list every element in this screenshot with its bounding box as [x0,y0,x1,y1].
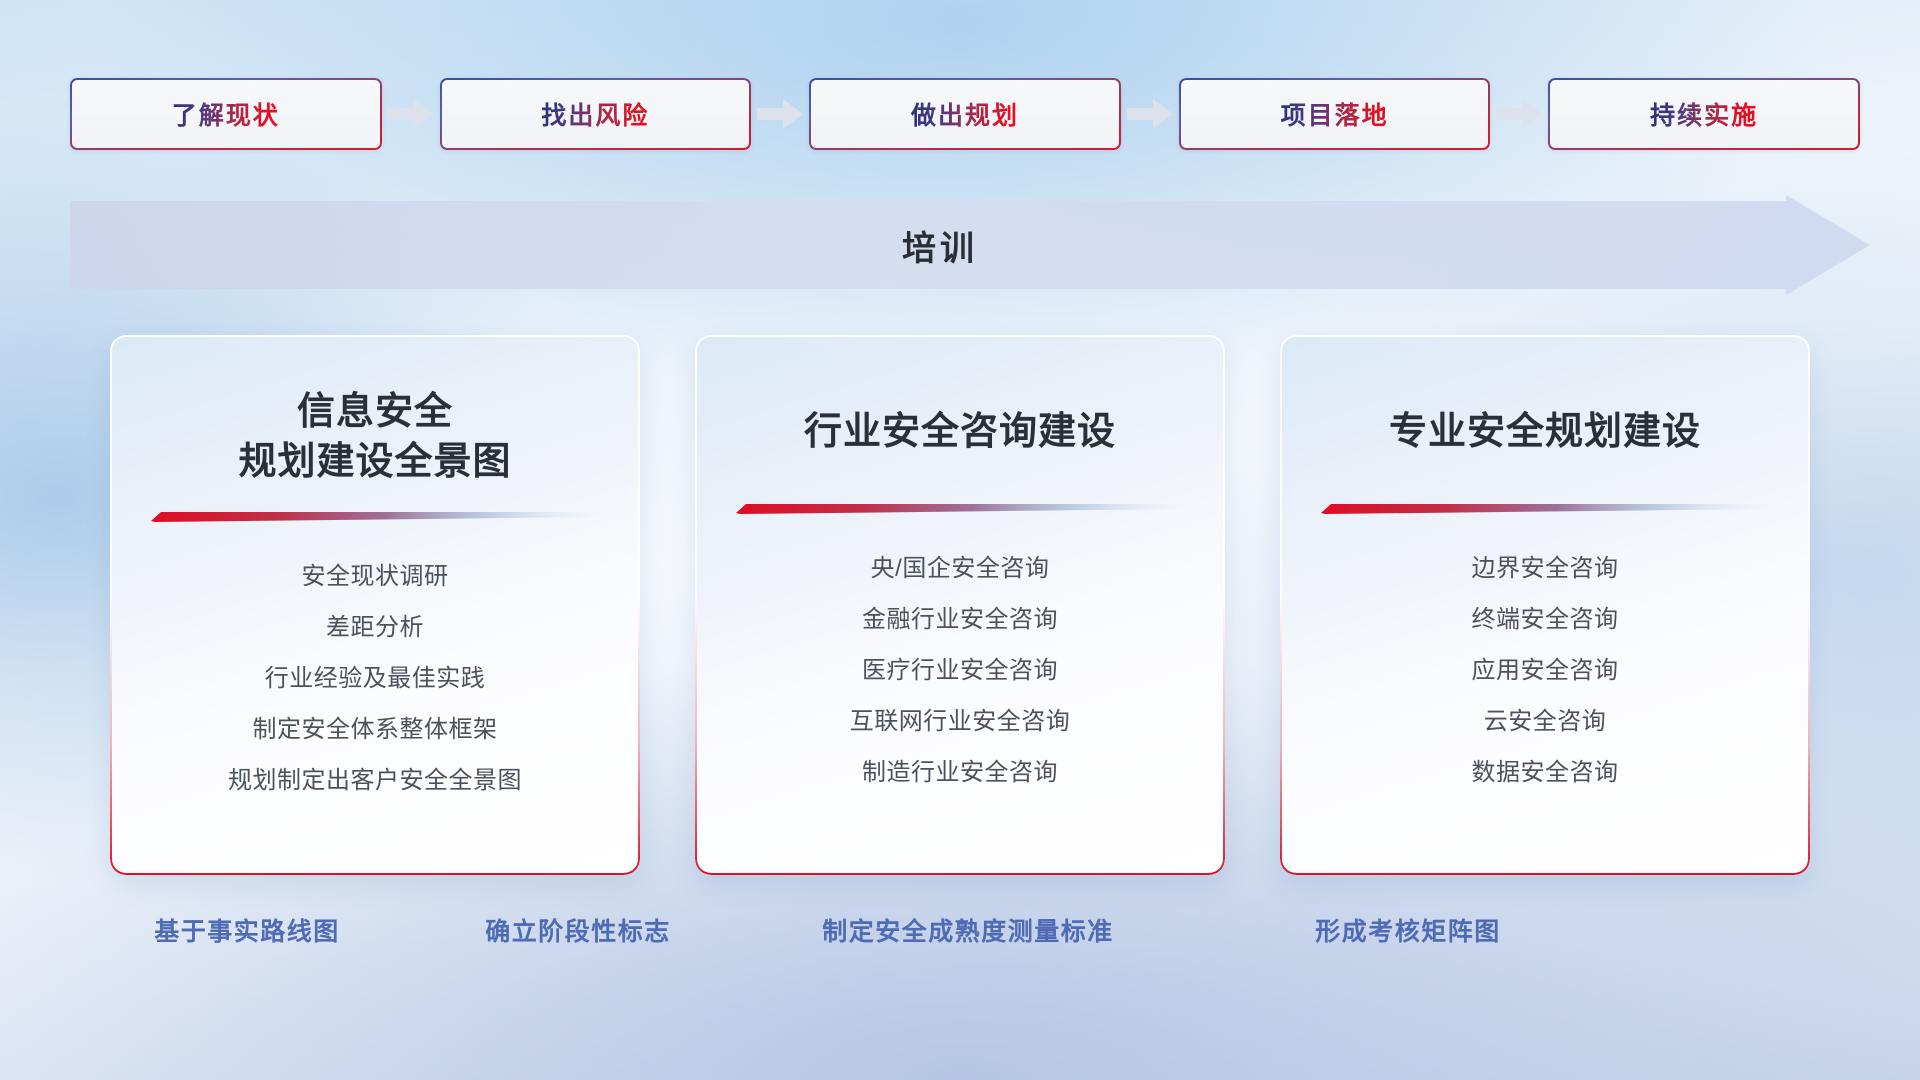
training-banner-label: 培训 [70,195,1870,295]
chevron-right-block-icon [1121,78,1179,150]
list-item: 边界安全咨询 [1472,543,1619,594]
list-item: 行业经验及最佳实践 [265,653,486,704]
step-box-1[interactable]: 了解现状 [70,78,382,150]
list-item: 安全现状调研 [302,551,449,602]
card-professional-security-planning[interactable]: 专业安全规划建设 边界安全咨询 [1280,335,1810,875]
step-box-3[interactable]: 做出规划 [809,78,1121,150]
card-industry-security-consulting[interactable]: 行业安全咨询建设 央/国企安全咨询 [695,335,1225,875]
list-item: 央/国企安全咨询 [871,543,1050,594]
gradient-underline-icon [147,509,603,525]
list-item: 终端安全咨询 [1472,594,1619,645]
card-info-security-panorama[interactable]: 信息安全 规划建设全景图 安全现状调研 [110,335,640,875]
list-item: 规划制定出客户安全全景图 [228,755,522,806]
card-title: 专业安全规划建设 [1389,407,1701,457]
step-label: 项目落地 [1281,96,1389,132]
step-label: 持续实施 [1650,96,1758,132]
slide-canvas: 了解现状 找出风险 做出规划 项目落地 持续实施 培训 [0,0,1920,1080]
list-item: 金融行业安全咨询 [862,594,1058,645]
step-label: 了解现状 [172,96,280,132]
chevron-right-block-icon [751,78,809,150]
bottom-label-1: 基于事实路线图 [154,912,340,948]
card-item-list: 央/国企安全咨询 金融行业安全咨询 医疗行业安全咨询 互联网行业安全咨询 制造行… [850,543,1071,798]
step-box-4[interactable]: 项目落地 [1179,78,1491,150]
step-box-5[interactable]: 持续实施 [1548,78,1860,150]
card-title: 行业安全咨询建设 [804,407,1116,457]
gradient-underline-icon [1317,501,1773,517]
card-item-list: 安全现状调研 差距分析 行业经验及最佳实践 制定安全体系整体框架 规划制定出客户… [228,551,522,806]
bottom-label-row: 基于事实路线图 确立阶段性标志 制定安全成熟度测量标准 形成考核矩阵图 [0,912,1920,958]
list-item: 医疗行业安全咨询 [862,645,1058,696]
card-item-list: 边界安全咨询 终端安全咨询 应用安全咨询 云安全咨询 数据安全咨询 [1472,543,1619,798]
step-label: 找出风险 [541,96,649,132]
process-step-row: 了解现状 找出风险 做出规划 项目落地 持续实施 [70,78,1860,150]
bottom-label-2: 确立阶段性标志 [485,912,671,948]
list-item: 应用安全咨询 [1472,645,1619,696]
training-banner: 培训 [70,195,1870,295]
gradient-underline-icon [732,501,1188,517]
list-item: 差距分析 [326,602,424,653]
list-item: 制造行业安全咨询 [862,747,1058,798]
step-box-2[interactable]: 找出风险 [440,78,752,150]
list-item: 制定安全体系整体框架 [253,704,498,755]
list-item: 云安全咨询 [1484,696,1607,747]
bottom-label-4: 形成考核矩阵图 [1315,912,1501,948]
card-title: 信息安全 规划建设全景图 [238,387,511,487]
chevron-right-block-icon [1490,78,1548,150]
list-item: 数据安全咨询 [1472,747,1619,798]
chevron-right-block-icon [382,78,440,150]
card-row: 信息安全 规划建设全景图 安全现状调研 [110,335,1810,875]
step-label: 做出规划 [911,96,1019,132]
list-item: 互联网行业安全咨询 [850,696,1071,747]
bottom-label-3: 制定安全成熟度测量标准 [822,912,1114,948]
